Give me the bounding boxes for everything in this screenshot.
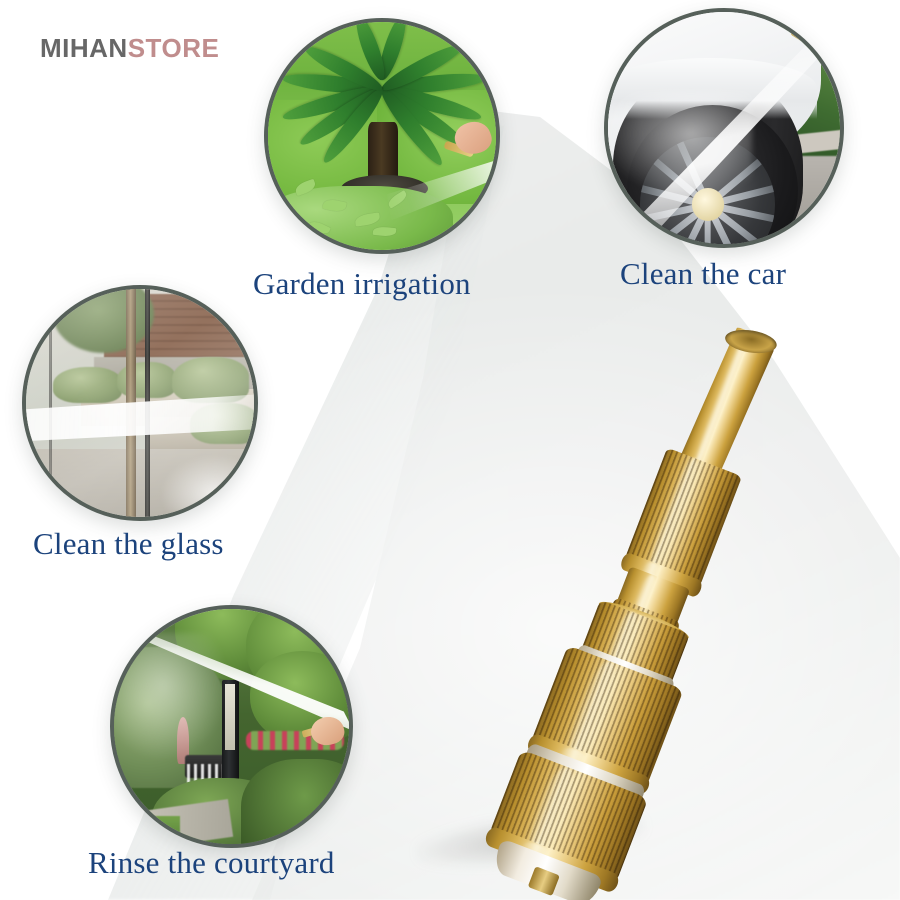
feature-caption-clean-the-car: Clean the car — [620, 256, 786, 292]
feature-image-clean-the-glass — [22, 285, 258, 521]
feature-image-rinse-the-courtyard — [110, 605, 353, 848]
water-mist — [110, 633, 232, 765]
feature-image-garden-irrigation — [264, 18, 500, 254]
water-splash — [158, 453, 240, 512]
product-brass-hose-nozzle — [398, 288, 758, 868]
scene-rinse-the-courtyard — [114, 609, 349, 844]
feature-image-clean-the-car — [604, 8, 844, 248]
scene-clean-the-car — [608, 12, 840, 244]
scene-garden-irrigation — [268, 22, 496, 250]
nozzle-assembly — [475, 303, 833, 886]
feature-caption-clean-the-glass: Clean the glass — [33, 526, 224, 562]
scene-clean-the-glass — [26, 289, 254, 517]
feature-caption-rinse-the-courtyard: Rinse the courtyard — [88, 845, 335, 881]
lawn — [110, 816, 180, 848]
brand-logo-part2: STORE — [128, 33, 220, 63]
product-feature-poster: MIHANSTORE — [0, 0, 900, 900]
right-bush — [241, 759, 353, 848]
brand-logo: MIHANSTORE — [40, 33, 219, 64]
brand-logo-part1: MIHAN — [40, 33, 128, 63]
